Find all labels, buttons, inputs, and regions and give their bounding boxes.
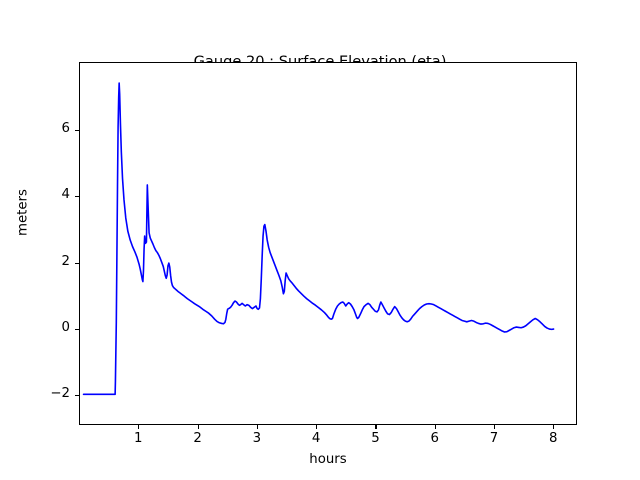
y-tick-mark-4 — [75, 196, 79, 197]
x-tick-label-1: 1 — [118, 431, 158, 446]
y-tick-label--2: −2 — [18, 386, 70, 401]
eta-line-series — [84, 83, 554, 394]
figure-canvas: Gauge 20 : Surface Elevation (eta) max(e… — [0, 0, 640, 480]
x-tick-mark-8 — [553, 425, 554, 429]
y-tick-mark--2 — [75, 395, 79, 396]
y-tick-mark-6 — [75, 130, 79, 131]
x-tick-label-3: 3 — [237, 431, 277, 446]
x-tick-label-5: 5 — [355, 431, 395, 446]
x-tick-mark-4 — [316, 425, 317, 429]
x-tick-mark-6 — [435, 425, 436, 429]
x-tick-label-7: 7 — [474, 431, 514, 446]
plot-axes — [79, 62, 577, 425]
x-tick-mark-5 — [375, 425, 376, 429]
x-tick-mark-2 — [198, 425, 199, 429]
x-tick-mark-7 — [494, 425, 495, 429]
y-tick-label-0: 0 — [18, 320, 70, 335]
y-tick-mark-2 — [75, 263, 79, 264]
x-tick-mark-1 — [138, 425, 139, 429]
y-tick-label-6: 6 — [18, 121, 70, 136]
x-tick-label-8: 8 — [533, 431, 573, 446]
y-tick-mark-0 — [75, 329, 79, 330]
x-tick-mark-3 — [257, 425, 258, 429]
x-tick-label-4: 4 — [296, 431, 336, 446]
x-axis-label: hours — [79, 452, 577, 467]
series-plot-area — [80, 63, 576, 424]
y-axis-label: meters — [16, 173, 31, 253]
x-tick-label-6: 6 — [415, 431, 455, 446]
x-tick-label-2: 2 — [178, 431, 218, 446]
y-tick-label-2: 2 — [18, 254, 70, 269]
